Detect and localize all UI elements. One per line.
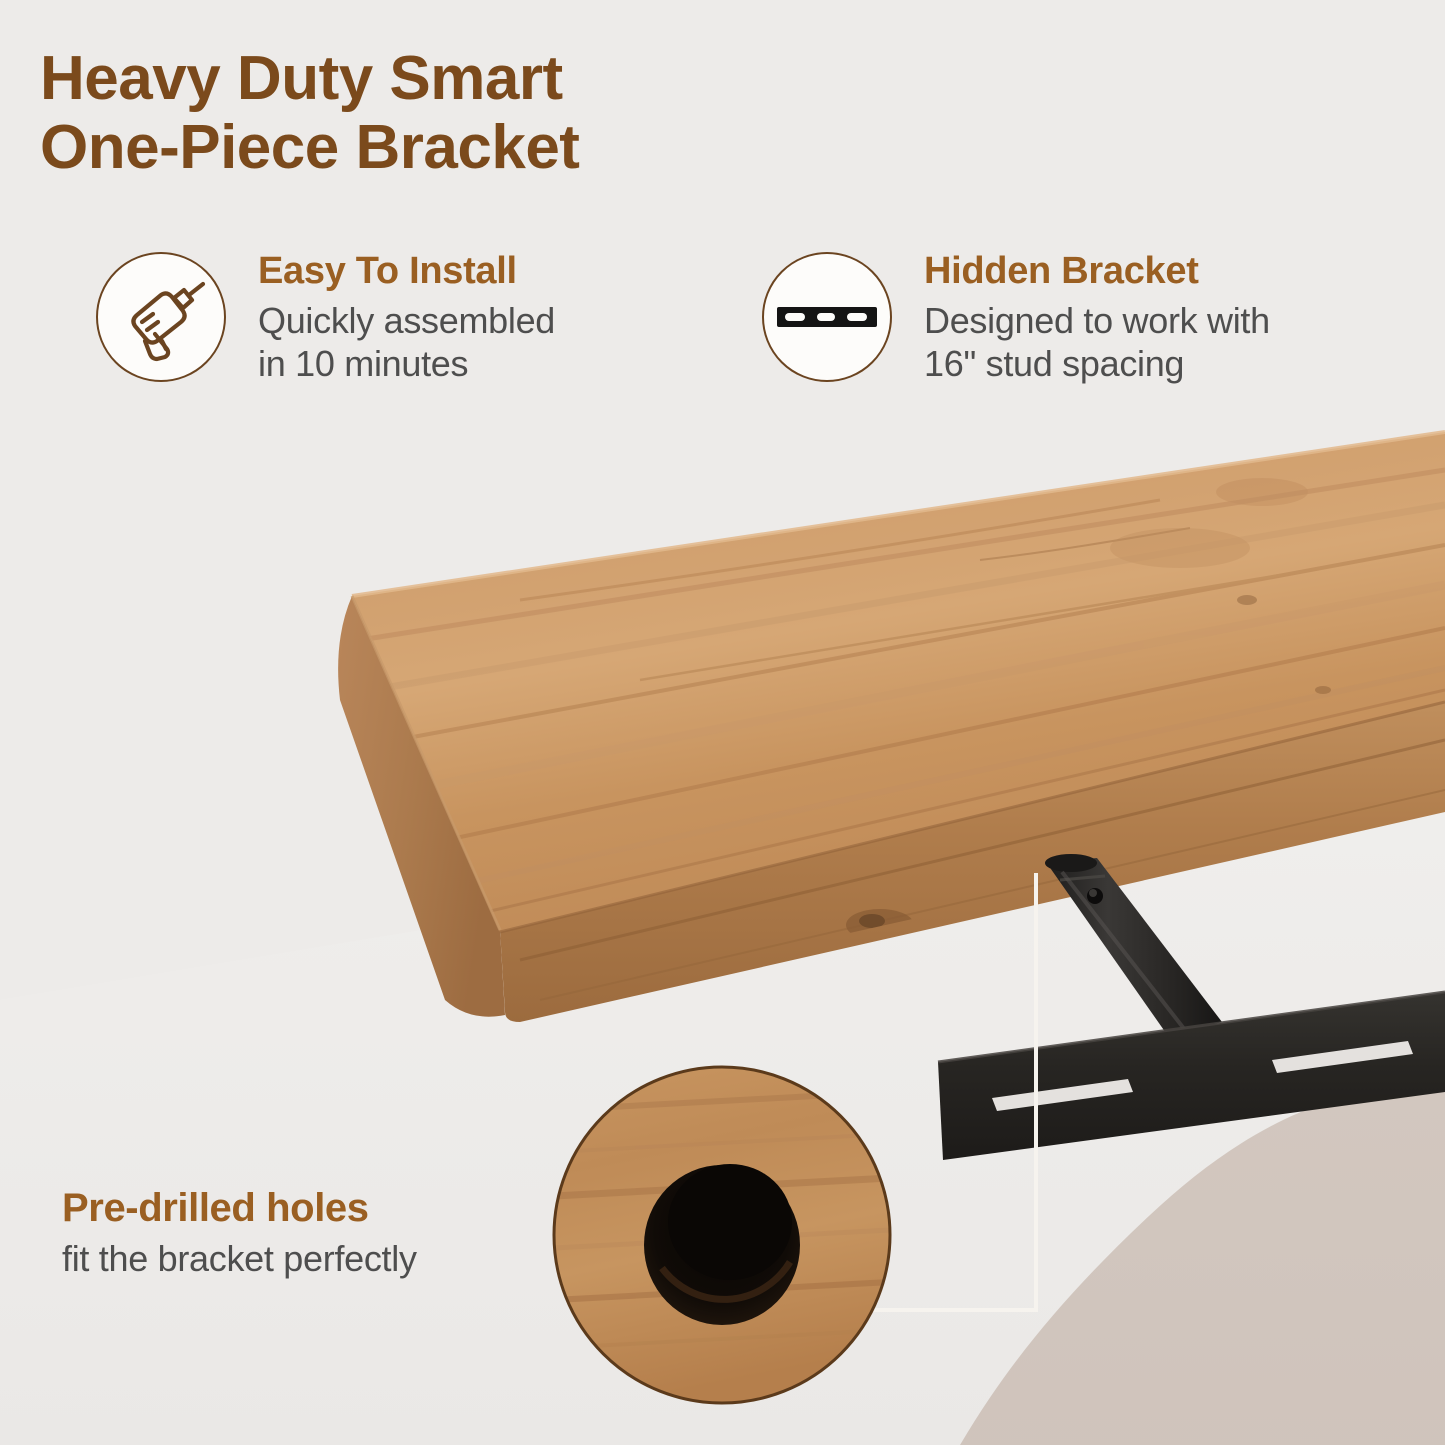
page-title: Heavy Duty Smart One-Piece Bracket <box>40 44 940 183</box>
caption-title: Pre-drilled holes <box>62 1186 582 1230</box>
page-title-line-2: One-Piece Bracket <box>40 113 940 182</box>
page-title-line-1: Heavy Duty Smart <box>40 44 563 113</box>
feature-description: Quickly assembled in 10 minutes <box>258 299 555 387</box>
bracket-bar-icon-circle <box>762 252 892 382</box>
drill-icon <box>115 271 207 363</box>
feature-description-line-2: 16" stud spacing <box>924 342 1270 386</box>
caption-pre-drilled-holes: Pre-drilled holes fit the bracket perfec… <box>62 1186 582 1279</box>
bracket-bar-icon <box>775 287 879 347</box>
bracket-mounting-plate <box>938 992 1445 1160</box>
drill-icon-circle <box>96 252 226 382</box>
feature-hidden-bracket-text: Hidden Bracket Designed to work with 16"… <box>924 246 1270 386</box>
feature-title: Easy To Install <box>258 250 555 293</box>
product-infographic: Heavy Duty Smart One-Piece Bracket <box>0 0 1445 1445</box>
feature-description-line-1: Designed to work with <box>924 299 1270 343</box>
callout-line <box>869 875 1036 1310</box>
bracket-rod <box>1045 854 1222 1036</box>
feature-easy-to-install: Easy To Install Quickly assembled in 10 … <box>96 246 696 386</box>
feature-description: Designed to work with 16" stud spacing <box>924 299 1270 387</box>
feature-hidden-bracket: Hidden Bracket Designed to work with 16"… <box>762 246 1402 386</box>
magnifier-inset <box>554 1067 890 1403</box>
feature-description-line-1: Quickly assembled <box>258 299 555 343</box>
feature-description-line-2: in 10 minutes <box>258 342 555 386</box>
feature-title: Hidden Bracket <box>924 250 1270 293</box>
caption-subtitle: fit the bracket perfectly <box>62 1238 582 1279</box>
feature-easy-to-install-text: Easy To Install Quickly assembled in 10 … <box>258 246 555 386</box>
